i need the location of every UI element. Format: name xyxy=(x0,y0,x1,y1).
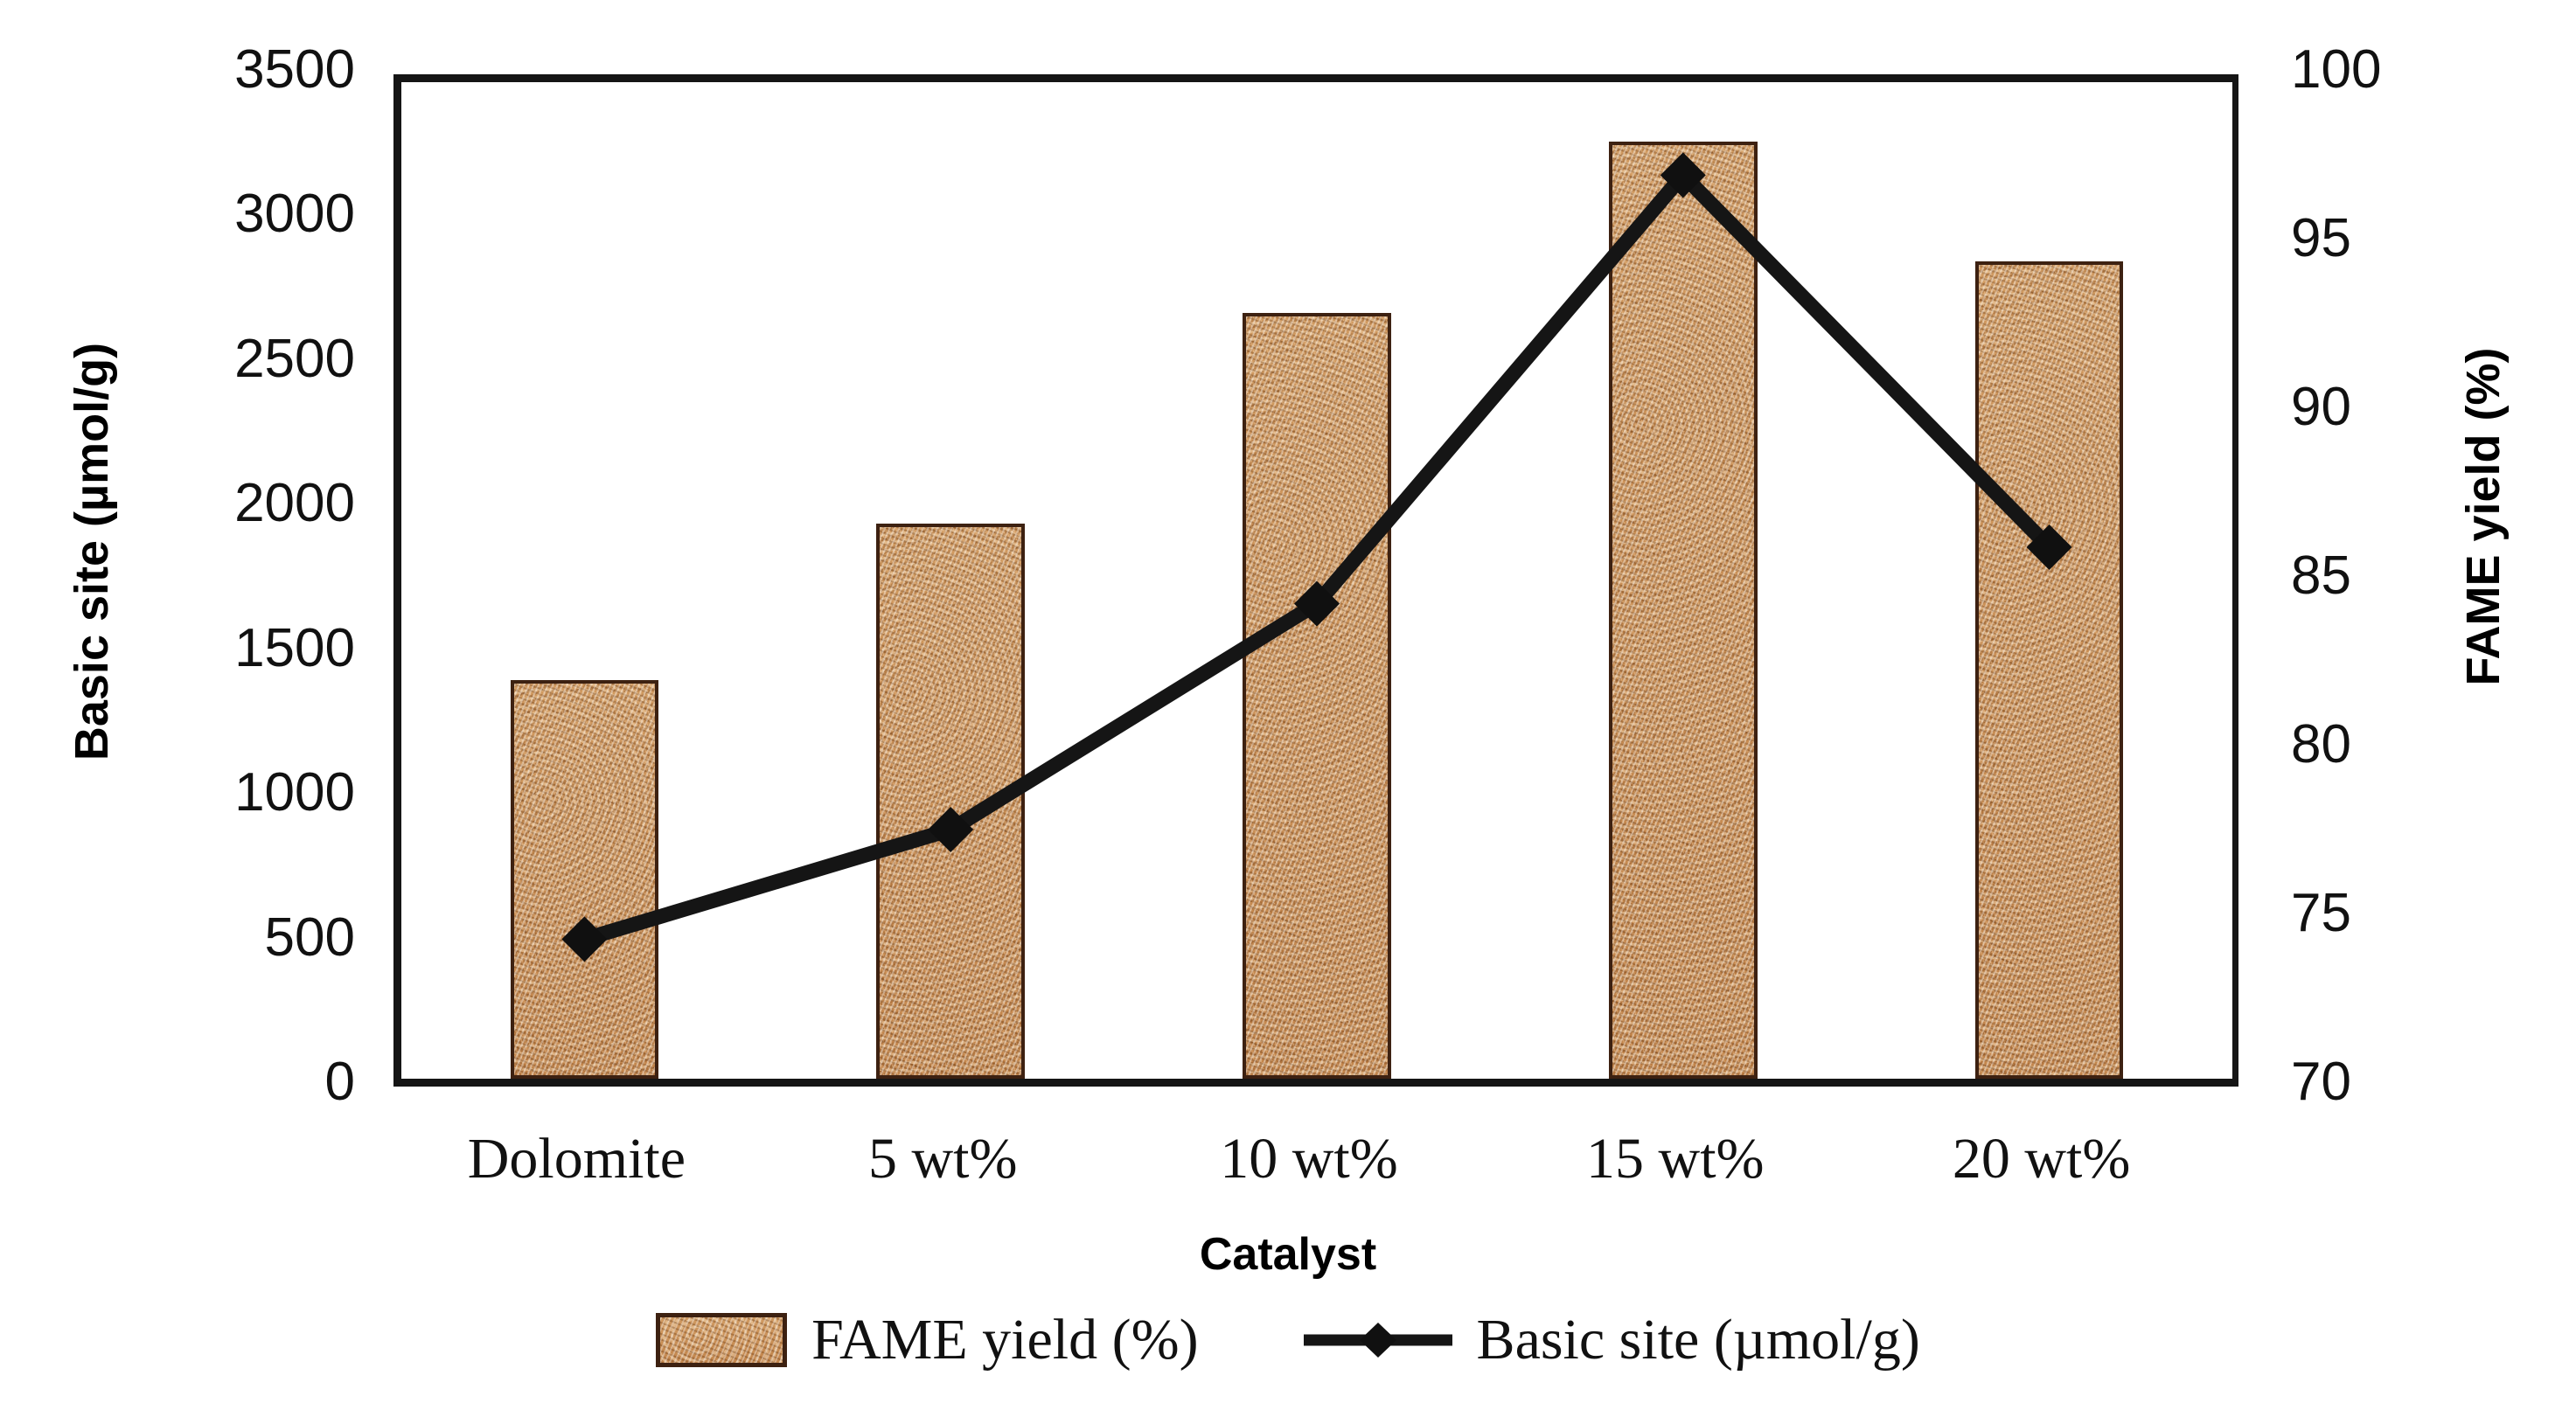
y-axis-right-tick-label: 85 xyxy=(2291,549,2553,603)
bar-swatch-icon xyxy=(656,1313,787,1367)
y-axis-right-title: FAME yield (%) xyxy=(2456,272,2510,761)
x-axis-title: Catalyst xyxy=(0,1228,2576,1281)
y-axis-left-tick-label: 2000 xyxy=(93,476,355,531)
legend-item-bar[interactable]: FAME yield (%) xyxy=(656,1307,1198,1373)
y-axis-left-tick-label: 500 xyxy=(93,911,355,965)
y-axis-left-tick-label: 2500 xyxy=(93,332,355,386)
y-axis-right-tick-label: 70 xyxy=(2291,1055,2553,1109)
line-marker-dolomite[interactable] xyxy=(561,916,607,962)
y-axis-right-tick-label: 75 xyxy=(2291,886,2553,941)
diamond-line-icon xyxy=(1304,1320,1452,1360)
plot-area xyxy=(393,74,2238,1087)
y-axis-right-tick-label: 90 xyxy=(2291,380,2553,434)
y-axis-left-tick-label: 3000 xyxy=(93,187,355,241)
chart-figure: Basic site (µmol/g) FAME yield (%) Catal… xyxy=(0,0,2576,1417)
line-series-path xyxy=(584,175,2049,939)
y-axis-left-tick-label: 0 xyxy=(93,1055,355,1109)
chart-legend: FAME yield (%) Basic site (µmol/g) xyxy=(0,1307,2576,1373)
x-axis-category-label: 20 wt% xyxy=(1779,1126,2304,1192)
legend-label-line: Basic site (µmol/g) xyxy=(1477,1307,1920,1373)
y-axis-right-tick-label: 100 xyxy=(2291,43,2553,97)
y-axis-left-tick-label: 1500 xyxy=(93,622,355,676)
y-axis-left-tick-label: 1000 xyxy=(93,766,355,820)
line-series-markers xyxy=(561,152,2071,962)
y-axis-left-tick-label: 3500 xyxy=(93,43,355,97)
y-axis-right-tick-label: 80 xyxy=(2291,718,2553,772)
legend-item-line[interactable]: Basic site (µmol/g) xyxy=(1304,1307,1920,1373)
line-series-layer xyxy=(401,82,2232,1079)
legend-label-bar: FAME yield (%) xyxy=(811,1307,1198,1373)
y-axis-right-tick-label: 95 xyxy=(2291,212,2553,266)
